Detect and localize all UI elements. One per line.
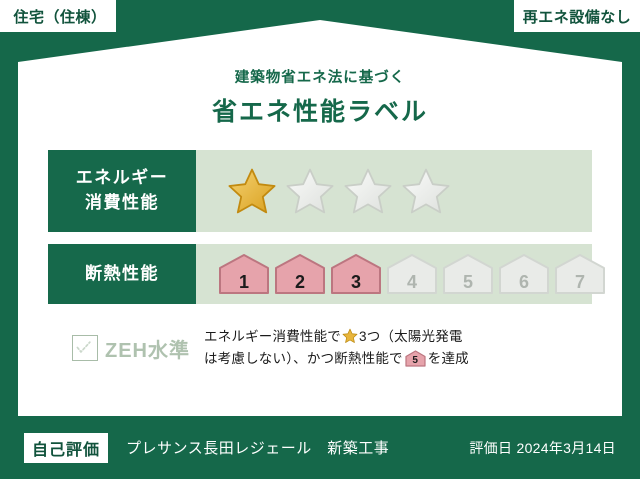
house-icon-empty: 5 xyxy=(442,253,494,295)
badge-renewable-energy: 再エネ設備なし xyxy=(514,0,640,32)
row-energy-performance: エネルギー 消費性能 xyxy=(48,150,592,232)
energy-performance-label: 住宅（住棟） 再エネ設備なし 建築物省エネ法に基づく 省エネ性能ラベル エネルギ… xyxy=(0,0,640,479)
house-icon-filled: 3 xyxy=(330,253,382,295)
zeh-note: ZEH水準 エネルギー消費性能で 3つ（太陽光発電 は考慮しない）、かつ断熱性能… xyxy=(48,326,592,371)
star-rating-scale xyxy=(196,150,592,232)
zeh-mark: ZEH水準 xyxy=(72,334,190,363)
label-subtitle: 建築物省エネ法に基づく xyxy=(36,66,604,87)
footer: 自己評価 プレサンス長田レジェール 新築工事 評価日 2024年3月14日 xyxy=(0,416,640,479)
row-energy-label-line1: エネルギー xyxy=(76,166,169,191)
star-icon-empty xyxy=(286,167,334,215)
house-grade-number: 7 xyxy=(554,273,606,291)
footer-evaluation-type-badge: 自己評価 xyxy=(24,433,108,463)
zeh-desc-star-count: 3つ（太陽光発電 xyxy=(359,329,463,344)
label-card: 建築物省エネ法に基づく 省エネ性能ラベル エネルギー 消費性能 断熱性能 123… xyxy=(18,20,622,416)
house-icon-filled: 2 xyxy=(274,253,326,295)
house-grade-number: 4 xyxy=(386,273,438,291)
row-insulation-label: 断熱性能 xyxy=(48,244,196,304)
star-icon-empty xyxy=(344,167,392,215)
house-grade-number: 1 xyxy=(218,273,270,291)
house-grade-number: 2 xyxy=(274,273,326,291)
footer-date-value: 2024年3月14日 xyxy=(516,440,616,456)
insulation-grade-scale: 1234567 xyxy=(196,244,610,304)
house-grade-number: 5 xyxy=(442,273,494,291)
house-icon-grade-number: 5 xyxy=(405,356,426,366)
house-grade-number: 3 xyxy=(330,273,382,291)
badge-building-type: 住宅（住棟） xyxy=(0,0,116,32)
zeh-desc-part3: を達成 xyxy=(428,351,469,366)
zeh-description: エネルギー消費性能で 3つ（太陽光発電 は考慮しない）、かつ断熱性能で 5 を達… xyxy=(204,326,469,371)
house-grade-number: 6 xyxy=(498,273,550,291)
footer-date-label: 評価日 xyxy=(469,440,512,456)
zeh-desc-part2: は考慮しない）、かつ断熱性能で xyxy=(204,351,403,366)
zeh-checkbox-icon xyxy=(72,335,98,361)
row-energy-label: エネルギー 消費性能 xyxy=(48,150,196,232)
row-energy-label-line2: 消費性能 xyxy=(85,191,159,216)
row-insulation-label-text: 断熱性能 xyxy=(85,262,159,287)
house-icon-filled: 1 xyxy=(218,253,270,295)
zeh-label: ZEH水準 xyxy=(105,334,190,363)
star-icon-empty xyxy=(402,167,450,215)
house-icon-empty: 6 xyxy=(498,253,550,295)
row-insulation-performance: 断熱性能 1234567 xyxy=(48,244,592,304)
star-icon-filled xyxy=(228,167,276,215)
label-title: 省エネ性能ラベル xyxy=(36,92,604,128)
house-icon-grade: 5 xyxy=(405,350,426,367)
house-icon-empty: 7 xyxy=(554,253,606,295)
footer-evaluation-date: 評価日 2024年3月14日 xyxy=(469,438,616,458)
zeh-desc-part1: エネルギー消費性能で xyxy=(204,329,341,344)
star-icon xyxy=(342,328,358,344)
footer-project-name: プレサンス長田レジェール 新築工事 xyxy=(126,437,469,458)
house-icon-empty: 4 xyxy=(386,253,438,295)
